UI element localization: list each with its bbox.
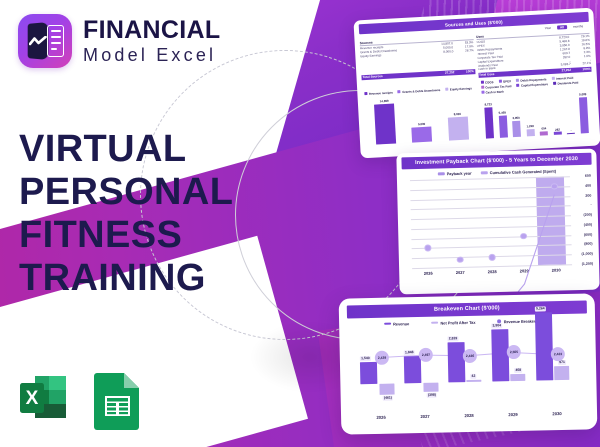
legend-item: OPEX: [498, 79, 511, 84]
bar: 282: [554, 132, 562, 135]
bar-label: 8,723: [484, 102, 491, 106]
bar-label-net-profit: (398): [427, 393, 437, 398]
bar-group: [448, 342, 482, 383]
bar: 5,000: [412, 126, 433, 142]
x-tick-label: 2030: [535, 410, 579, 416]
y-tick-label: (600): [584, 232, 592, 236]
data-point: [457, 256, 464, 263]
bar-label: -: [571, 128, 572, 132]
bar-label: 14,899: [380, 99, 389, 103]
y-tick-label: 200: [585, 193, 591, 197]
legend-label: Revenue: [393, 321, 409, 326]
data-point: [520, 233, 527, 240]
bar-label-revenue: 5,264: [535, 307, 546, 312]
cumulative-cash-line: [410, 176, 574, 294]
brand-text: FINANCIAL Model Excel: [83, 18, 220, 64]
breakeven-chart-card[interactable]: Breakeven Chart ($'000) Revenue Net Prof…: [339, 293, 598, 434]
legend-item-cumulative-cash: Cumulative Cash Generated (Spent): [480, 169, 556, 176]
bar: 14,899: [374, 103, 396, 144]
legend-label: Net Profit After Tax: [440, 320, 475, 326]
legend-item-revenue: Revenue: [384, 321, 410, 327]
bar-label-net-profit: 458: [514, 368, 522, 373]
y-tick-label: (1,200): [582, 262, 593, 266]
legend-item: Cash in Bank: [481, 89, 504, 94]
legend-label: Equity Earnings: [450, 86, 472, 91]
headline-line-3: FITNESS: [19, 214, 233, 257]
financial-model-document-icon: [18, 14, 72, 68]
bar-label: 8,000: [454, 112, 461, 116]
brand-title-primary: FINANCIAL: [83, 18, 220, 43]
list-lines-icon: [47, 25, 64, 57]
toggle-all[interactable]: All: [557, 25, 567, 30]
legend-item: Grants & Debts Drawdowns: [397, 83, 440, 99]
headline-line-4: TRAINING: [19, 257, 233, 300]
bar-label-revenue: 1,540: [360, 356, 371, 361]
google-sheets-icon[interactable]: [93, 370, 143, 430]
legend-label: Payback year: [447, 171, 472, 177]
total-pct: 100%: [454, 69, 475, 75]
y-tick-label: (800): [584, 242, 592, 246]
legend-item: COGS: [480, 80, 493, 85]
bar: -: [567, 132, 575, 133]
legend-label: COGS: [485, 80, 494, 84]
breakeven-plot-area: 1,540 (461) 2,439 1,848 (398) 2,497 2,81…: [357, 327, 579, 410]
bar-label: 282: [555, 127, 560, 131]
legend-label: Dividends Paid: [557, 80, 578, 85]
y-tick-label: 600: [585, 174, 591, 178]
legend-label: OPEX: [503, 79, 511, 83]
total-value: 27,252: [427, 71, 454, 77]
bar-label-revenue: 3,904: [491, 323, 502, 328]
y-tick-label: (1,000): [581, 252, 592, 256]
bar-label: 1,268: [526, 124, 533, 128]
legend-label: Revenue receipts: [369, 90, 393, 95]
bar-group: [360, 361, 393, 384]
uses-bar-chart: 8,723 5,469 3,950 1,268 604 282 - 5,089: [482, 91, 591, 139]
svg-text:X: X: [26, 388, 39, 409]
x-tick-label: 2029: [491, 411, 535, 417]
data-point: [424, 245, 431, 252]
brand-logo: FINANCIAL Model Excel: [18, 14, 220, 68]
legend-label: Grants & Debts Drawdowns: [402, 88, 440, 94]
headline-line-2: PERSONAL: [19, 171, 233, 214]
bar-label: 5,000: [418, 122, 425, 126]
data-point: [489, 254, 496, 261]
sources-column: Sources Revenue receipts14,807.053.3% Gr…: [360, 35, 476, 84]
bar-net-profit-negative: [423, 382, 438, 391]
x-tick-label: 2027: [403, 413, 447, 419]
bar: 604: [540, 131, 548, 135]
bar-label: 5,469: [499, 111, 506, 115]
legend-label: Cumulative Cash Generated (Spent): [490, 169, 556, 176]
bar-revenue: [535, 312, 553, 380]
bar: 5,089: [579, 97, 589, 133]
legend-item: Capital Expenditure: [516, 82, 548, 88]
compatible-apps: X: [16, 370, 143, 430]
page-title: VIRTUAL PERSONAL FITNESS TRAINING: [19, 128, 233, 300]
y-tick-label: (200): [583, 213, 591, 217]
legend-item-net-profit: Net Profit After Tax: [431, 320, 475, 326]
bar-net-profit: [510, 374, 525, 381]
brand-title-secondary: Model Excel: [83, 46, 220, 64]
y-tick-label: (400): [584, 223, 592, 227]
sources-bar-chart: 14,899 5,000 8,000: [367, 97, 476, 145]
bar: 3,950: [512, 120, 521, 136]
legend-label: Corporate Tax Paid: [485, 84, 511, 89]
bar: 8,723: [484, 107, 494, 138]
poster-canvas: FINANCIAL Model Excel VIRTUAL PERSONAL F…: [0, 0, 600, 447]
x-tick-label: 2028: [447, 412, 491, 418]
x-tick-label: 2026: [359, 414, 403, 420]
legend-item: Equity Earnings: [445, 81, 472, 96]
bar-label-revenue: 2,819: [448, 336, 459, 341]
breakeven-x-axis: 2026 2027 2028 2029 2030: [359, 410, 579, 420]
bar-label: 604: [541, 126, 546, 130]
microsoft-excel-icon[interactable]: X: [16, 370, 72, 426]
bar-label: 3,950: [512, 116, 519, 120]
legend-label: Capital Expenditure: [521, 82, 548, 87]
bar: 8,000: [447, 116, 468, 140]
bar-group: [535, 312, 569, 381]
legend-item-payback-year: Payback year: [437, 171, 471, 177]
bar-revenue: [360, 362, 377, 384]
legend-label: Cash in Bank: [485, 89, 504, 94]
legend-item: Dividends Paid: [553, 80, 578, 85]
y-tick-label: -: [590, 203, 591, 207]
investment-payback-card[interactable]: Investment Payback Chart ($'000) - 5 Yea…: [396, 149, 599, 295]
bar: 5,469: [498, 115, 507, 137]
bar-revenue: [448, 342, 466, 382]
bar-net-profit: [467, 380, 482, 382]
headline-line-1: VIRTUAL: [19, 128, 233, 171]
bar-label-net-profit: (461): [383, 396, 393, 401]
uses-column: Uses COGS8,723.029.1% OPEX5,468.819.6% D…: [476, 29, 592, 78]
data-point: [551, 183, 558, 190]
toggle-year[interactable]: Year: [545, 26, 551, 30]
bar-net-profit-negative: [379, 383, 394, 394]
y-tick-label: 400: [585, 183, 591, 187]
bar-label-revenue: 1,848: [404, 350, 415, 355]
sources-and-uses-card[interactable]: Sources and Uses ($'000) Year All months…: [353, 8, 600, 159]
toggle-months[interactable]: months: [573, 24, 583, 29]
payback-plot-area: 600 400 200 - (200) (400) (600) (800) (1…: [410, 176, 572, 268]
bar-label: 5,089: [579, 92, 586, 96]
spark-line-icon: [29, 36, 47, 47]
bar-label-net-profit: 42: [470, 374, 476, 379]
bar-revenue: [404, 356, 422, 383]
bar-net-profit: [554, 366, 569, 380]
bar: 1,268: [526, 129, 534, 136]
